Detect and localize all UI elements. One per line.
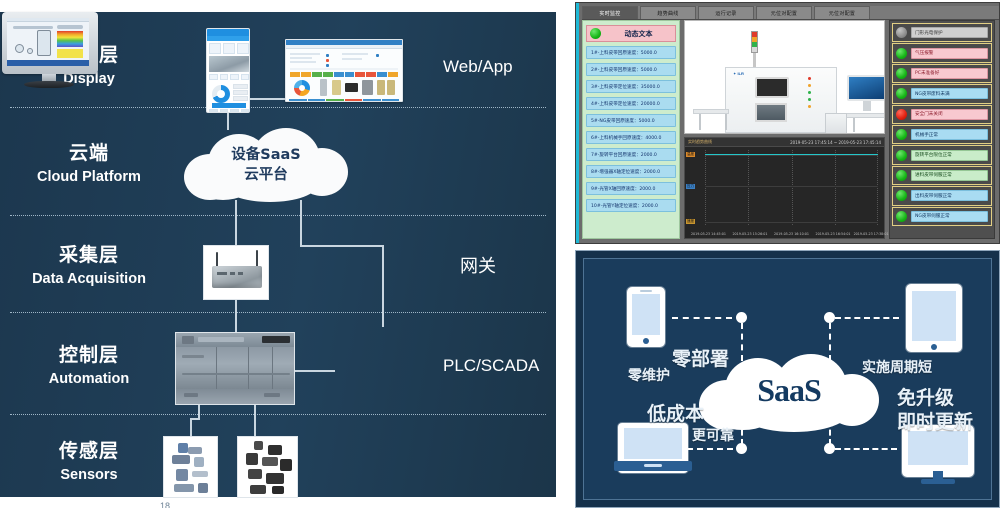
chart-header: 实时趋势曲线 2019-05-23 17:45:14 ~ 2019-05-23 … — [685, 138, 884, 147]
status-row[interactable]: 进料皮带伺服正常 — [892, 166, 992, 185]
machine-led-green — [808, 91, 811, 94]
status-row[interactable]: 出料皮带伺服正常 — [892, 186, 992, 205]
chart-x-tick: 2019-05-23 14:45:01 — [691, 232, 726, 236]
architecture-canvas: 展示层 Display 云端 Cloud Platform 采集层 Data A… — [0, 12, 556, 497]
slide-number: 18 — [160, 501, 170, 508]
right-label-gateway: 网关 — [460, 252, 496, 278]
hmi-panel: 实时监控 趋势曲线 运行记录 元位对配置 元位对配置 动态文本 1#-上料皮带回… — [575, 2, 1000, 244]
connector — [382, 245, 384, 327]
status-led-icon — [896, 129, 907, 140]
connector-dashed — [835, 317, 899, 319]
dynamic-text-item[interactable]: 8#-增强器X轴定位速度：2000.0 — [586, 165, 676, 178]
dynamic-text-item[interactable]: 5#-NG皮带回原速度：5000.0 — [586, 114, 676, 127]
saas-cloud-label: SaaS — [699, 372, 879, 409]
status-led-icon — [896, 88, 907, 99]
layer-divider — [10, 414, 546, 415]
layer-label-cn: 控制层 — [14, 344, 164, 368]
layer-label-cloud: 云端 Cloud Platform — [14, 142, 164, 187]
chart-time-range: 2019-05-23 17:45:14 ~ 2019-05-23 17:45:1… — [790, 140, 881, 145]
layer-label-automation: 控制层 Automation — [14, 344, 164, 389]
status-led-icon — [896, 68, 907, 79]
connector-dashed — [687, 448, 733, 450]
tab-realtime-monitoring[interactable]: 实时监控 — [582, 6, 638, 19]
dynamic-text-item[interactable]: 10#-光管Y轴定位速度：2000.0 — [586, 199, 676, 212]
status-led-icon — [896, 170, 907, 181]
status-row[interactable]: NG皮带伺服正常 — [892, 207, 992, 226]
table-leg — [725, 114, 727, 130]
right-label-plc-scada: PLC/SCADA — [443, 356, 539, 376]
monitor-stand — [863, 101, 871, 111]
dynamic-text-header: 动态文本 — [586, 25, 676, 42]
dynamic-text-item[interactable]: 1#-上料皮带回原速度：5000.0 — [586, 46, 676, 59]
layer-label-sensors: 传感层 Sensors — [14, 440, 164, 485]
layer-label-en: Automation — [14, 370, 164, 389]
status-label: NG皮带伺服正常 — [911, 211, 988, 222]
trend-chart: 实时趋势曲线 2019-05-23 17:45:14 ~ 2019-05-23 … — [684, 137, 885, 239]
status-led-icon — [590, 28, 601, 39]
dynamic-text-item[interactable]: 4#-上料皮带定位速度：20000.0 — [586, 97, 676, 110]
stack-light-icon — [751, 31, 758, 53]
status-led-icon — [896, 150, 907, 161]
saas-canvas: SaaS 零部署 零维护 低成本 更可靠 实施周期短 免升级 即时更新 — [583, 258, 992, 500]
dynamic-text-item[interactable]: 2#-上料皮带回原速度：5000.0 — [586, 63, 676, 76]
status-label: PC未准备好 — [911, 68, 988, 79]
connector — [300, 245, 384, 247]
laptop-icon — [618, 423, 688, 473]
connector — [254, 405, 256, 438]
connector — [300, 200, 302, 245]
benefit-instant-update: 即时更新 — [897, 407, 973, 434]
connector-node — [736, 312, 747, 323]
device-thumbnail-sensors-b — [237, 436, 298, 498]
status-label: 安全门未关闭 — [911, 109, 988, 120]
benefit-zero-deployment: 零部署 — [672, 344, 729, 371]
smartphone-icon — [627, 287, 665, 347]
machine-side-cabinet — [825, 113, 847, 134]
layer-divider — [10, 312, 546, 313]
status-row[interactable]: PC未准备好 — [892, 64, 992, 83]
chart-series-line — [705, 154, 878, 156]
hmi-center-column: ✦ ILR — [684, 20, 885, 239]
dynamic-text-item[interactable]: 3#-上料皮带定位速度：35000.0 — [586, 80, 676, 93]
status-row[interactable]: 门形光电保护 — [892, 23, 992, 42]
status-row[interactable]: 安全门未关闭 — [892, 105, 992, 124]
chart-x-tick: 2019-05-23 16:54:01 — [816, 232, 851, 236]
screenshot-root: 展示层 Display 云端 Cloud Platform 采集层 Data A… — [0, 0, 1000, 508]
status-indicator-panel: 门形光电保护 气压报警 PC未准备好 NG皮带废料未满 安全门未关闭 — [889, 20, 995, 239]
hmi-tab-bar[interactable]: 实时监控 趋势曲线 运行记录 元位对配置 元位对配置 — [582, 6, 999, 20]
status-led-icon — [896, 190, 907, 201]
status-label: 进料皮带伺服正常 — [911, 170, 988, 181]
machine-led-red — [808, 77, 811, 80]
dynamic-text-item[interactable]: 6#-上料机械手回原速度：4000.0 — [586, 131, 676, 144]
connector-dashed — [672, 317, 732, 319]
machine-led-amber — [808, 105, 811, 108]
chart-y-tick: 温度 — [686, 152, 695, 157]
tab-config-1[interactable]: 元位对配置 — [756, 6, 812, 19]
chart-x-tick: 2019-05-23 15:26:01 — [732, 232, 767, 236]
status-row[interactable]: 气压报警 — [892, 43, 992, 62]
cloud-text: 设备SaaS 云平台 — [176, 146, 356, 185]
machine-logo: ✦ ILR — [733, 71, 744, 76]
tab-trend-curve[interactable]: 趋势曲线 — [640, 6, 696, 19]
dynamic-text-title: 动态文本 — [605, 29, 672, 39]
machine-led-amber — [808, 84, 811, 87]
status-led-icon — [896, 211, 907, 222]
right-label-web-app: Web/App — [443, 57, 513, 77]
benefit-low-cost: 低成本 — [647, 399, 704, 426]
benefit-more-reliable: 更可靠 — [692, 425, 734, 445]
machine-hmi-screen — [755, 77, 789, 98]
device-thumbnail-plc — [175, 332, 295, 405]
benefit-no-upgrade: 免升级 — [897, 383, 954, 410]
status-label: NG皮带废料未满 — [911, 88, 988, 99]
chart-title: 实时趋势曲线 — [688, 139, 712, 145]
machine-workstation-monitor — [847, 75, 885, 101]
layer-divider — [10, 107, 546, 108]
status-led-icon — [896, 109, 907, 120]
status-led-icon — [896, 27, 907, 38]
architecture-slide: 展示层 Display 云端 Cloud Platform 采集层 Data A… — [0, 0, 556, 508]
status-label: 气压报警 — [911, 48, 988, 59]
chart-plot-area: 温度 压力 速度 2019-05-23 14:45:01 2019-05-23 … — [705, 150, 878, 225]
connector — [235, 200, 237, 246]
machine-photo: ✦ ILR — [684, 20, 885, 134]
connector-node — [824, 312, 835, 323]
dynamic-text-panel: 动态文本 1#-上料皮带回原速度：5000.0 2#-上料皮带回原速度：5000… — [582, 20, 680, 239]
chart-y-tick: 速度 — [686, 219, 695, 224]
layer-label-en: Sensors — [14, 466, 164, 485]
layer-divider — [10, 215, 546, 216]
device-thumbnail-gateway — [203, 245, 269, 300]
connector — [198, 405, 200, 419]
table-leg — [853, 118, 855, 132]
dynamic-text-item[interactable]: 7#-旋转平台回原速度：2000.0 — [586, 148, 676, 161]
connector-node — [824, 443, 835, 454]
cloud-text-line1: 设备SaaS — [231, 147, 300, 163]
device-thumbnail-desktop-app — [285, 39, 403, 102]
connector-dashed — [835, 448, 897, 450]
chart-x-tick: 2019-05-23 17:38:01 — [854, 232, 889, 236]
layer-label-en: Data Acquisition — [14, 270, 164, 289]
tablet-icon — [906, 284, 962, 352]
cloud-text-line2: 云平台 — [244, 167, 288, 183]
saas-benefits-panel: SaaS 零部署 零维护 低成本 更可靠 实施周期短 免升级 即时更新 — [575, 250, 1000, 508]
layer-label-data-acquisition: 采集层 Data Acquisition — [14, 244, 164, 289]
machine-window — [755, 103, 787, 122]
layer-label-cn: 云端 — [14, 142, 164, 166]
device-thumbnail-sensors-a — [163, 436, 218, 498]
connector — [190, 418, 192, 438]
device-thumbnail-phone — [206, 28, 250, 113]
connector-node — [736, 443, 747, 454]
status-label: 旋转平台限位正常 — [911, 150, 988, 161]
status-row[interactable]: NG皮带废料未满 — [892, 84, 992, 103]
tab-config-2[interactable]: 元位对配置 — [814, 6, 870, 19]
chart-x-tick: 2019-05-23 16:10:01 — [774, 232, 809, 236]
status-row[interactable]: 旋转平台限位正常 — [892, 145, 992, 164]
connector — [235, 300, 237, 333]
chart-y-tick: 压力 — [686, 184, 695, 189]
machine-led-green — [808, 98, 811, 101]
cloud-shape: 设备SaaS 云平台 — [176, 128, 356, 204]
layer-label-en: Cloud Platform — [14, 168, 164, 187]
status-label: 出料皮带伺服正常 — [911, 190, 988, 201]
status-led-icon — [896, 48, 907, 59]
hmi-content: 动态文本 1#-上料皮带回原速度：5000.0 2#-上料皮带回原速度：5000… — [582, 20, 995, 239]
benefit-zero-maintenance: 零维护 — [628, 365, 670, 385]
dynamic-text-item[interactable]: 9#-光管X轴回原速度：2000.0 — [586, 182, 676, 195]
layer-label-cn: 采集层 — [14, 244, 164, 268]
tab-run-records[interactable]: 运行记录 — [698, 6, 754, 19]
connector — [295, 370, 335, 372]
hmi-accent-bar — [576, 3, 579, 243]
table-leg — [699, 114, 701, 130]
status-row[interactable]: 机械手正常 — [892, 125, 992, 144]
layer-label-cn: 传感层 — [14, 440, 164, 464]
status-label: 门形光电保护 — [911, 27, 988, 38]
status-label: 机械手正常 — [911, 129, 988, 140]
